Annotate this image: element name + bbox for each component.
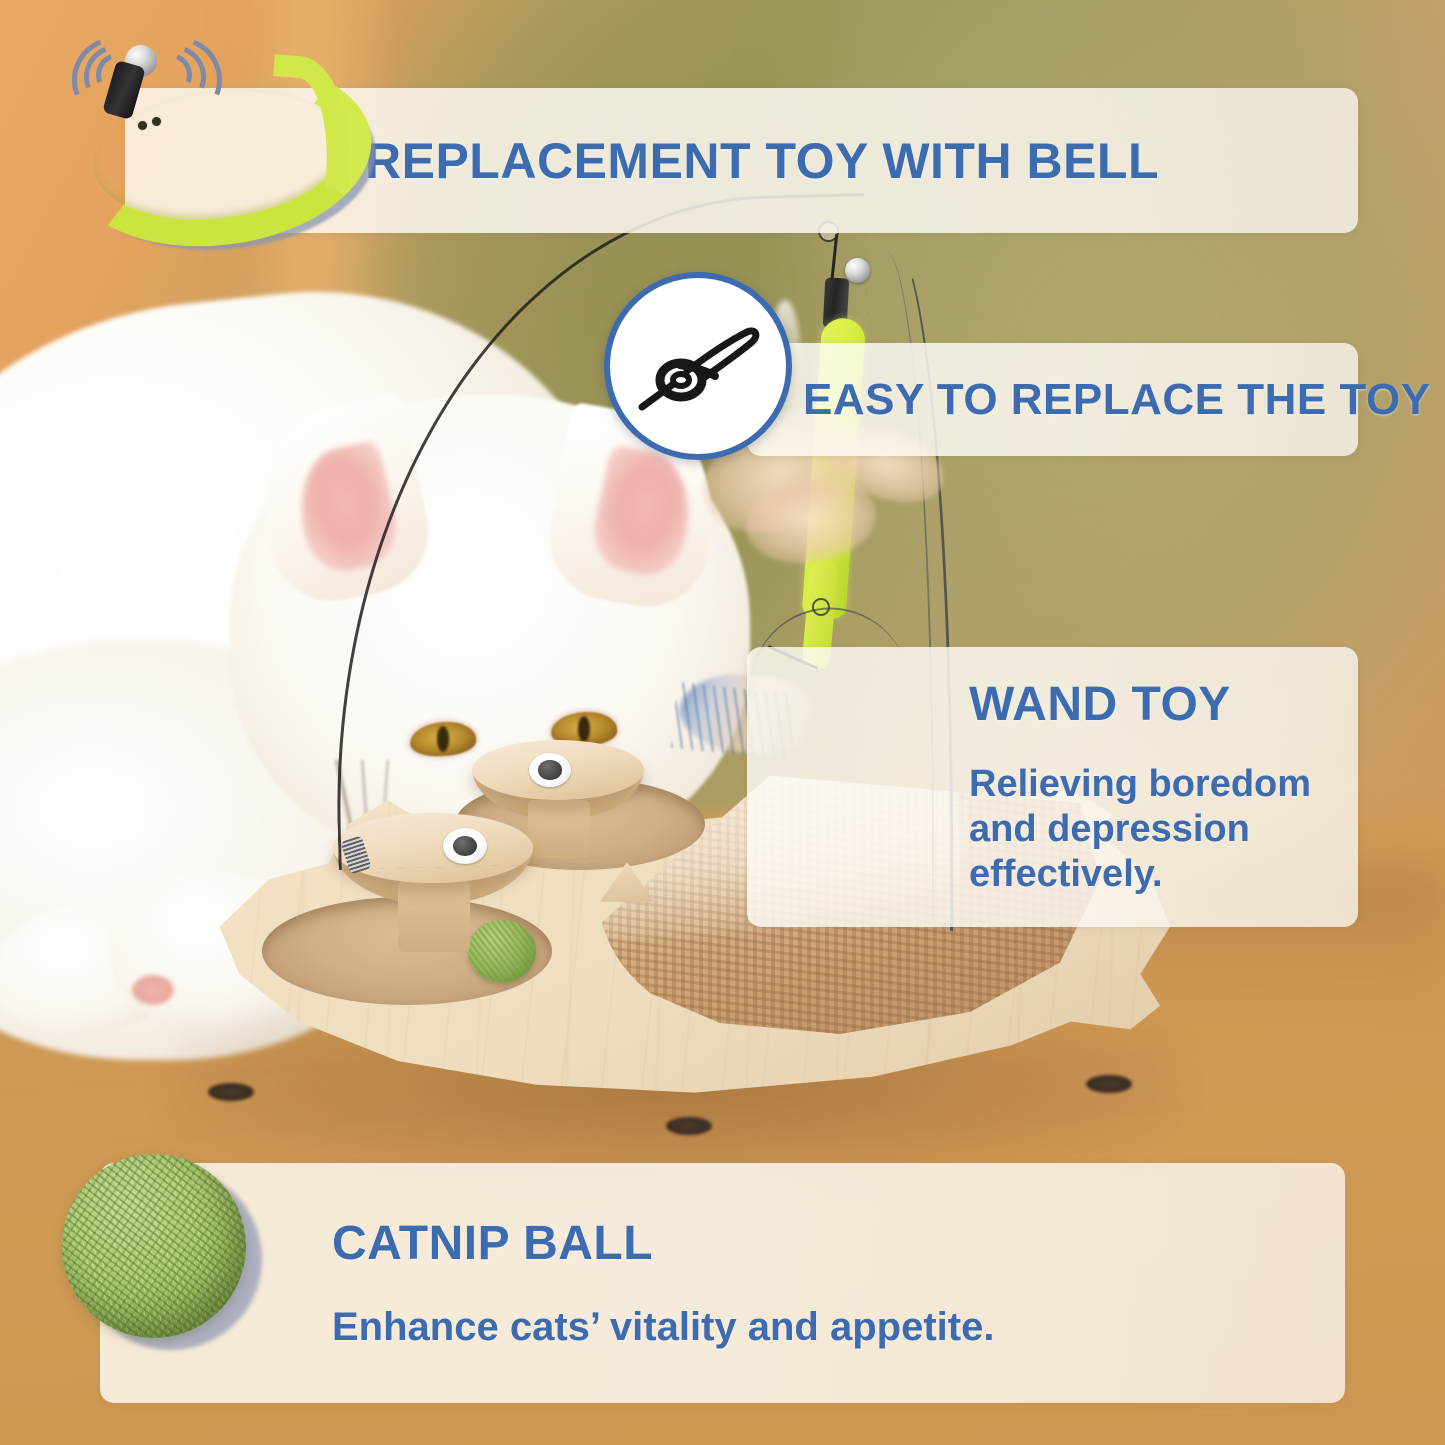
callout-catnip-ball: CATNIP BALL Enhance cats’ vitality and a… [100,1163,1345,1403]
callout-subtitle-catnip: Enhance cats’ vitality and appetite. [332,1305,994,1350]
cat-paw-pad [132,975,174,1005]
wand-cross-ring [812,598,830,616]
worm-tail [266,54,359,190]
callout-title-replace: EASY TO REPLACE THE TOY [803,375,1431,425]
board-foot-right [1086,1075,1132,1093]
bell-icon [845,258,870,283]
clip-connector-icon [623,291,773,441]
callout-title-wand: WAND TOY [969,677,1231,732]
worm-plush-toy-icon [52,25,352,220]
callout-wand-toy: WAND TOY Relieving boredom and depressio… [747,647,1358,927]
spinner-front-stem [398,880,470,952]
catnip-ball-on-board [468,920,536,982]
callout-title-bell: REPLACEMENT TOY WITH BELL [365,132,1159,190]
worm-eye-1 [138,121,147,130]
callout-easy-to-replace-the-toy: EASY TO REPLACE THE TOY [747,343,1358,456]
board-foot-center [666,1117,712,1135]
clip-connector-inset [604,272,792,460]
catnip-ball-sphere [62,1154,246,1338]
callout-title-catnip: CATNIP BALL [332,1216,653,1271]
callout-subtitle-wand: Relieving boredom and depression effecti… [969,762,1311,896]
board-foot-left [208,1083,254,1101]
catnip-ball-icon [58,1152,268,1362]
infographic-canvas: REPLACEMENT TOY WITH BELL EASY TO REPLAC… [0,0,1445,1445]
worm-eye-2 [152,117,161,126]
